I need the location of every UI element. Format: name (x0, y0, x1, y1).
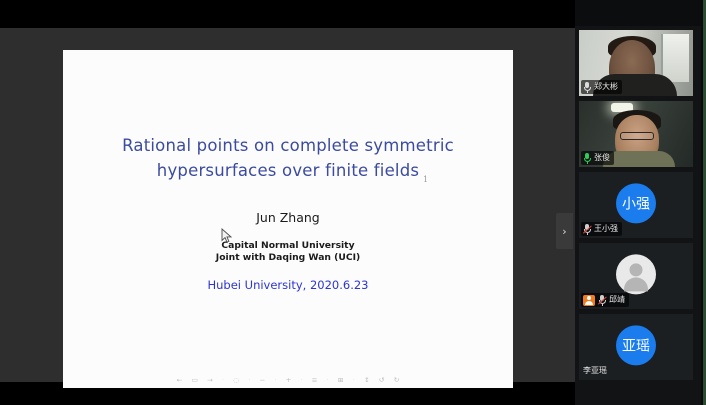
participant-name-badge-3: 王小强 (581, 222, 622, 236)
pdf-toolbar-item-3[interactable]: → (207, 377, 213, 383)
shared-screen-region[interactable]: Rational points on complete symmetric hy… (0, 20, 575, 382)
participant-avatar-5: 亚瑶 (616, 325, 656, 365)
participant-name-4: 邱靖 (609, 294, 625, 306)
video-person-glasses (620, 132, 654, 140)
participant-avatar-4 (616, 254, 656, 294)
participant-name-5: 李亚瑶 (583, 365, 607, 377)
pdf-toolbar-item-11[interactable]: ≡ (312, 377, 318, 383)
participant-name-badge-2: 张俊 (581, 151, 614, 165)
avatar-initials-5: 亚瑶 (622, 335, 650, 355)
pdf-toolbar-item-15[interactable]: ↕ (364, 377, 370, 383)
collapse-panel-button[interactable]: › (556, 213, 573, 249)
pdf-toolbar-item-12: · (327, 377, 329, 383)
slide-author: Jun Zhang (63, 210, 513, 225)
microphone-muted-icon (598, 295, 606, 306)
mouse-cursor-icon (221, 228, 233, 244)
participant-name-badge-5: 李亚瑶 (581, 364, 611, 378)
slide-page-number: 1 (423, 175, 428, 184)
pdf-toolbar-item-1[interactable]: ← (176, 377, 182, 383)
pdf-toolbar-item-10: · (300, 377, 302, 383)
avatar-initials-3: 小强 (622, 193, 650, 213)
pdf-toolbar-item-13[interactable]: ⊞ (338, 377, 344, 383)
slide-affiliation-line-2: Joint with Daqing Wan (UCI) (63, 252, 513, 264)
slide-title-line-1: Rational points on complete symmetric (63, 134, 513, 159)
participant-avatar-3: 小强 (616, 183, 656, 223)
pdf-toolbar-item-2[interactable]: ▭ (191, 377, 198, 383)
share-top-bar (0, 20, 575, 28)
slide-affiliation: Capital Normal University Joint with Daq… (63, 240, 513, 265)
slide-venue: Hubei University, 2020.6.23 (63, 278, 513, 292)
participant-name-3: 王小强 (594, 223, 618, 235)
pdf-toolbar-item-4: · (222, 377, 224, 383)
slide-title-line-2: hypersurfaces over finite fields (63, 159, 513, 184)
participant-name-2: 张俊 (594, 152, 610, 164)
pdf-toolbar-item-7[interactable]: − (259, 377, 265, 383)
video-window-bg (661, 34, 689, 82)
presentation-slide[interactable]: Rational points on complete symmetric hy… (63, 50, 513, 388)
host-badge-icon (583, 295, 595, 306)
pdf-toolbar-item-16[interactable]: ↺ (379, 377, 385, 383)
pdf-toolbar-item-14: · (353, 377, 355, 383)
slide-affiliation-line-1: Capital Normal University (63, 240, 513, 252)
microphone-muted-icon (583, 224, 591, 235)
pdf-toolbar-item-17[interactable]: ↻ (394, 377, 400, 383)
pdf-toolbar-item-5[interactable]: ◌ (233, 377, 239, 383)
pdf-toolbar-item-8: · (274, 377, 276, 383)
pdf-toolbar-item-9[interactable]: + (286, 377, 292, 383)
participant-tile-1[interactable]: 郑大彬 (579, 30, 693, 96)
participant-tile-3[interactable]: 小强 王小强 (579, 172, 693, 238)
participant-video-strip[interactable]: 郑大彬 张俊 小强 (575, 0, 706, 405)
slide-title: Rational points on complete symmetric hy… (63, 134, 513, 184)
strip-top-spacer (575, 0, 706, 26)
participant-name-1: 郑大彬 (594, 81, 618, 93)
conference-window: Rational points on complete symmetric hy… (0, 0, 706, 405)
strip-edge-shadow (701, 0, 703, 405)
participant-name-badge-1: 郑大彬 (581, 80, 622, 94)
person-silhouette-body (624, 277, 648, 291)
pdf-viewer-toolbar[interactable]: ←▭→·◌·−·+·≡·⊞·↕↺↻ (63, 377, 513, 384)
pdf-toolbar-item-6: · (248, 377, 250, 383)
chevron-right-icon: › (562, 225, 566, 238)
participant-name-badge-4: 邱靖 (581, 293, 629, 307)
person-silhouette-icon (630, 263, 643, 276)
microphone-icon (583, 153, 591, 164)
participant-tile-5[interactable]: 亚瑶 李亚瑶 (579, 314, 693, 380)
participant-tile-2[interactable]: 张俊 (579, 101, 693, 167)
microphone-icon (583, 82, 591, 93)
participant-tile-4[interactable]: 邱靖 (579, 243, 693, 309)
